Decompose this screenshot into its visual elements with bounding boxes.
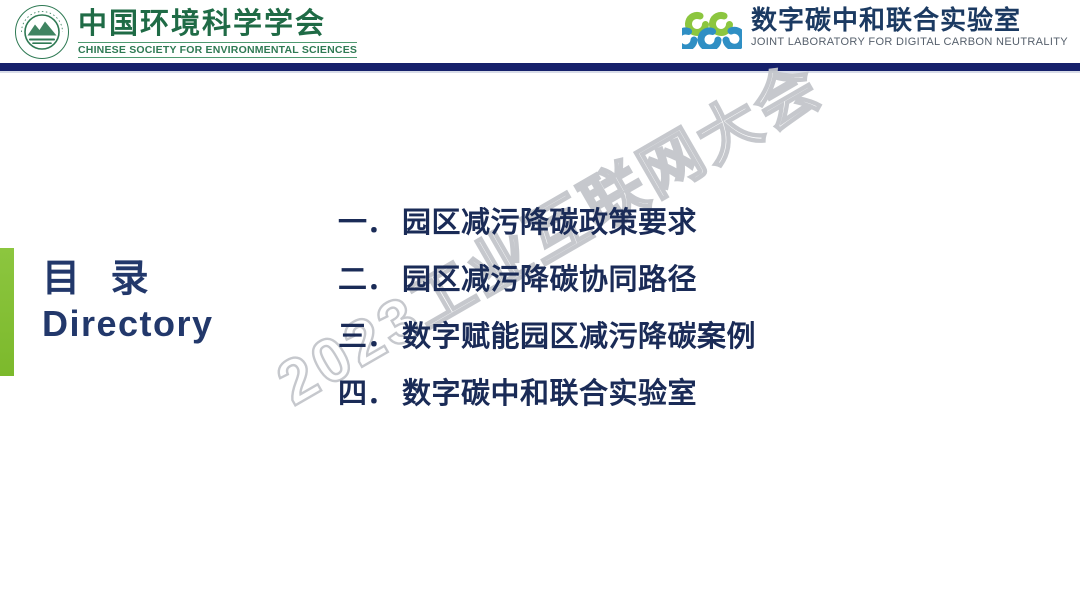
joint-laboratory-logo: 数字碳中和联合实验室 JOINT LABORATORY FOR DIGITAL … xyxy=(682,6,1068,49)
slide-canvas: 中国环境科学学会 CHINESE SOCIETY FOR ENVIRONMENT… xyxy=(0,0,1080,607)
toc-item-3-label: 数字赋能园区减污降碳案例 xyxy=(402,313,756,355)
toc-item-2-label: 园区减污降碳协同路径 xyxy=(402,256,697,298)
toc-item-1[interactable]: 一． 园区减污降碳政策要求 xyxy=(338,199,858,256)
directory-title-cn: 目 录 xyxy=(42,256,292,302)
header-divider-shadow xyxy=(0,71,1080,73)
org-name-en: CHINESE SOCIETY FOR ENVIRONMENTAL SCIENC… xyxy=(78,42,357,58)
header-divider-rule xyxy=(0,63,1080,71)
slide-header: 中国环境科学学会 CHINESE SOCIETY FOR ENVIRONMENT… xyxy=(0,0,1080,63)
pinwheel-clover-icon xyxy=(682,7,742,49)
directory-title: 目 录 Directory xyxy=(42,256,292,346)
mountain-seal-icon xyxy=(14,4,70,60)
toc-item-4-label: 数字碳中和联合实验室 xyxy=(402,370,697,412)
directory-title-en: Directory xyxy=(42,302,292,346)
toc-item-3[interactable]: 三． 数字赋能园区减污降碳案例 xyxy=(338,313,858,370)
chinese-society-wordmark: 中国环境科学学会 CHINESE SOCIETY FOR ENVIRONMENT… xyxy=(78,7,357,58)
joint-laboratory-wordmark: 数字碳中和联合实验室 JOINT LABORATORY FOR DIGITAL … xyxy=(751,6,1068,49)
table-of-contents: 一． 园区减污降碳政策要求 二． 园区减污降碳协同路径 三． 数字赋能园区减污降… xyxy=(338,199,858,427)
toc-item-1-label: 园区减污降碳政策要求 xyxy=(402,199,697,241)
lab-name-cn: 数字碳中和联合实验室 xyxy=(751,6,1068,35)
toc-item-1-number: 一． xyxy=(338,199,402,241)
org-name-cn: 中国环境科学学会 xyxy=(78,9,357,40)
directory-accent-bar xyxy=(0,248,14,376)
lab-name-en: JOINT LABORATORY FOR DIGITAL CARBON NEUT… xyxy=(751,36,1068,49)
toc-item-3-number: 三． xyxy=(338,313,402,355)
toc-item-4-number: 四． xyxy=(338,370,402,412)
toc-item-2-number: 二． xyxy=(338,256,402,298)
toc-item-2[interactable]: 二． 园区减污降碳协同路径 xyxy=(338,256,858,313)
toc-item-4[interactable]: 四． 数字碳中和联合实验室 xyxy=(338,370,858,427)
chinese-society-logo: 中国环境科学学会 CHINESE SOCIETY FOR ENVIRONMENT… xyxy=(14,4,357,60)
